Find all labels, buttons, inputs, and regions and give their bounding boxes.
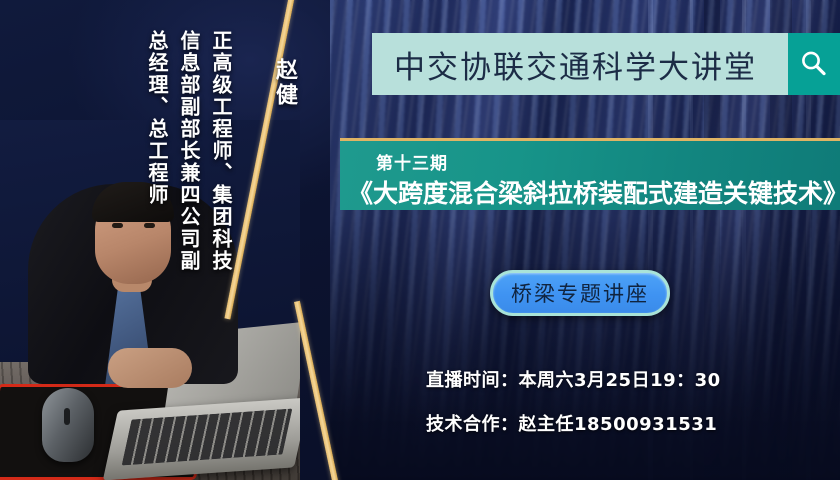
page-title: 中交协联交通科学大讲堂 xyxy=(394,42,757,87)
title-bar: 中交协联交通科学大讲堂 xyxy=(372,33,840,95)
search-button[interactable] xyxy=(788,33,840,95)
topic-badge[interactable]: 桥梁专题讲座 xyxy=(490,270,670,316)
photo-eye xyxy=(144,223,155,228)
broadcast-time: 直播时间：本周六3月25日19：30 xyxy=(426,366,721,392)
speaker-credential-line-2: 信息部副部长兼四公司副 xyxy=(175,30,204,272)
topic-badge-label: 桥梁专题讲座 xyxy=(511,278,649,308)
photo-hands xyxy=(108,348,192,388)
webinar-poster: 总经理、总工程师 信息部副部长兼四公司副 正高级工程师、集团科技 赵健 中交协联… xyxy=(0,0,840,480)
photo-eye xyxy=(112,223,123,228)
speaker-name: 赵健 xyxy=(268,58,300,108)
speaker-credential-line-1: 正高级工程师、集团科技 xyxy=(207,30,236,272)
speaker-credential-line-3: 总经理、总工程师 xyxy=(143,30,172,206)
subtitle-band: 第十三期 《大跨度混合梁斜拉桥装配式建造关键技术》 xyxy=(340,138,840,210)
title-bar-label-box: 中交协联交通科学大讲堂 xyxy=(372,33,788,95)
photo-mouse xyxy=(42,388,94,462)
issue-number: 第十三期 xyxy=(376,149,448,174)
search-icon xyxy=(799,49,829,79)
technical-contact: 技术合作：赵主任18500931531 xyxy=(426,410,717,436)
lecture-title: 《大跨度混合梁斜拉桥装配式建造关键技术》 xyxy=(348,174,840,210)
